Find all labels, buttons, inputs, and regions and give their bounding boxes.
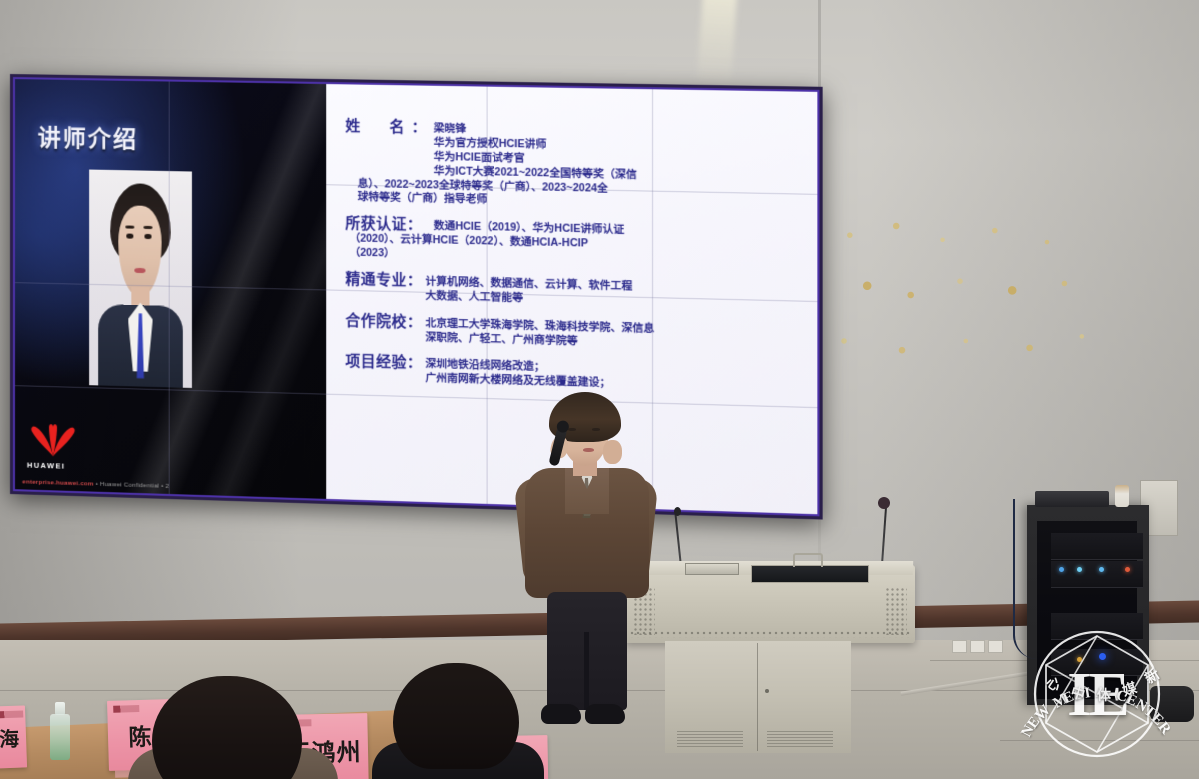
slide-content-list: 姓 名： 梁晓锋 华为官方授权HCIE讲师 华为HCIE面试考官 华为ICT大赛… [345, 118, 809, 398]
presenter-eye-right [592, 428, 600, 431]
lectern[interactable] [625, 553, 915, 753]
video-wall-display[interactable]: 讲师介绍 [10, 74, 823, 520]
wall-outlet[interactable] [952, 640, 967, 653]
name-card-text: 陈 [128, 718, 152, 753]
water-bottle [50, 702, 70, 760]
rack-unit [1051, 613, 1143, 640]
lectern-door-seam [757, 643, 758, 751]
microphone-head-right-icon [878, 497, 890, 509]
name-card-text: 海 [0, 722, 19, 752]
portrait-mouth [134, 268, 145, 273]
presenter-hand-right [603, 440, 622, 464]
slide-section-label: 项目经验： [345, 353, 425, 386]
lectern-door-knob[interactable] [765, 689, 769, 693]
lectern-monitor[interactable] [751, 565, 869, 583]
wall-outlet[interactable] [970, 640, 985, 653]
huawei-logo-icon [27, 422, 79, 458]
presenter-shoe-left [541, 704, 581, 724]
display-tile-seam [487, 85, 488, 506]
lectern-handle[interactable] [793, 553, 823, 567]
instructor-portrait-photo [89, 170, 192, 389]
standing-person-boot [1150, 686, 1194, 722]
equipment-rack[interactable] [1027, 505, 1149, 705]
rack-status-led [1099, 567, 1104, 572]
video-wall-screen: 讲师介绍 [13, 77, 819, 516]
portrait-eye-right [144, 233, 151, 239]
huawei-wordmark: HUAWEI [27, 461, 65, 471]
slide-footer-sep1: • [96, 481, 98, 488]
rack-unit [1051, 561, 1143, 588]
slide-section-name: 姓 名： 梁晓锋 华为官方授权HCIE讲师 华为HCIE面试考官 华为ICT大赛… [345, 118, 809, 215]
rack-power-led [1099, 653, 1106, 660]
name-card-logo [0, 710, 23, 718]
scene-root: 讲师介绍 [0, 0, 1199, 779]
presenter-shoe-right [585, 704, 625, 724]
rack-status-led [1077, 657, 1082, 662]
slide-footer-confidential: Huawei Confidential [100, 481, 159, 490]
bottle-body [50, 714, 70, 760]
wall-tape-residue-marks [815, 180, 1105, 410]
display-tile-seam [169, 80, 170, 496]
presenter-eye-left [568, 428, 576, 431]
slide-footer: enterprise.huawei.com • Huawei Confident… [22, 479, 169, 491]
slide-section-label: 精通专业： [345, 271, 425, 304]
portrait-face [119, 205, 162, 297]
rack-status-led [1059, 567, 1064, 572]
wall-outlet[interactable] [988, 640, 1003, 653]
lectern-louver-left [677, 731, 743, 747]
ceiling-water-stain [697, 0, 737, 83]
name-card: 海 [0, 705, 27, 768]
rack-unit [1051, 649, 1143, 676]
slide-section-value: 数通HCIE（2019）、华为HCIE讲师认证 （2020）、云计算HCIE（2… [425, 217, 809, 271]
rack-unit [1051, 533, 1143, 560]
presenter-mouth [583, 448, 594, 452]
floor-tile-line [1000, 740, 1199, 741]
presenter-leg-split [584, 632, 589, 710]
rack-top-bottle [1115, 485, 1129, 507]
slide-footer-url: enterprise.huawei.com [22, 479, 93, 488]
microphone-head-left-icon [674, 507, 681, 516]
slide-footer-sep2: • [161, 483, 163, 490]
rack-top-device [1035, 491, 1109, 507]
lectern-louver-right [767, 731, 833, 747]
lectern-control-panel[interactable] [685, 563, 739, 575]
rack-cable [1013, 499, 1037, 659]
name-card-logo [113, 705, 139, 713]
lectern-vent-right [885, 587, 907, 635]
audience-member-head [393, 663, 519, 769]
rack-glass-door[interactable] [1037, 521, 1137, 699]
presenter [505, 392, 665, 737]
slide-section-value: 梁晓锋 华为官方授权HCIE讲师 华为HCIE面试考官 华为ICT大赛2021~… [434, 119, 810, 214]
slide-title: 讲师介绍 [38, 119, 138, 155]
slide-section-label: 合作院校： [345, 312, 425, 345]
rack-status-led [1077, 567, 1082, 572]
portrait-eye-left [126, 233, 133, 239]
rack-status-led [1125, 567, 1130, 572]
